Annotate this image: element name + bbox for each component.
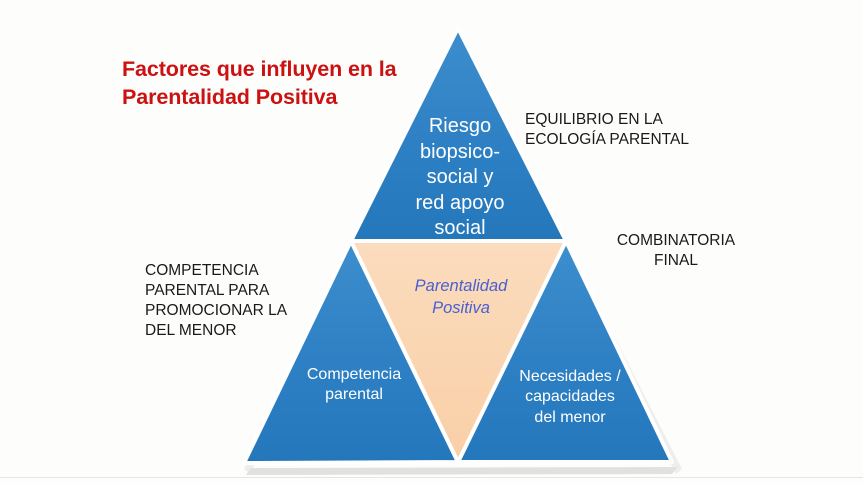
bottom-divider <box>0 477 863 478</box>
callout-competencia-line-3: PROMOCIONAR LA <box>145 301 335 321</box>
slide-canvas: Factores que influyen en la Parentalidad… <box>0 0 863 484</box>
zone-label-center-line-2: Positiva <box>386 297 536 319</box>
zone-label-bottom-right-line-1: Necesidades / <box>490 367 650 387</box>
zone-label-bottom-left: Competencia parental <box>274 365 434 406</box>
callout-competencia-line-4: DEL MENOR <box>145 321 335 341</box>
callout-competencia-line-2: PARENTAL PARA <box>145 281 335 301</box>
zone-label-bottom-right: Necesidades / capacidades del menor <box>490 367 650 428</box>
callout-equilibrio-line-1: EQUILIBRIO EN LA <box>525 110 740 130</box>
zone-label-top-line-5: social <box>388 216 532 242</box>
callout-combinatoria: COMBINATORIA FINAL <box>591 231 761 271</box>
slide-title-line-2: Parentalidad Positiva <box>122 83 452 111</box>
zone-label-center: Parentalidad Positiva <box>386 275 536 320</box>
callout-competencia-line-1: COMPETENCIA <box>145 261 335 281</box>
zone-label-top-line-3: social y <box>388 165 532 191</box>
slide-title-line-1: Factores que influyen en la <box>122 55 452 83</box>
zone-label-bottom-right-line-2: capacidades <box>490 387 650 407</box>
zone-label-bottom-left-line-2: parental <box>274 385 434 405</box>
zone-label-top-line-2: biopsico- <box>388 140 532 166</box>
zone-label-bottom-right-line-3: del menor <box>490 408 650 428</box>
callout-competencia: COMPETENCIA PARENTAL PARA PROMOCIONAR LA… <box>145 261 335 342</box>
zone-label-center-line-1: Parentalidad <box>386 275 536 297</box>
pyramid-base-highlight <box>247 463 670 464</box>
callout-combinatoria-line-2: FINAL <box>591 251 761 271</box>
slide-title: Factores que influyen en la Parentalidad… <box>122 55 452 112</box>
zone-label-bottom-left-line-1: Competencia <box>274 365 434 385</box>
zone-label-top-line-4: red apoyo <box>388 191 532 217</box>
callout-equilibrio-line-2: ECOLOGÍA PARENTAL <box>525 130 740 150</box>
zone-label-top-line-1: Riesgo <box>388 114 532 140</box>
zone-label-top: Riesgo biopsico- social y red apoyo soci… <box>388 114 532 242</box>
callout-equilibrio: EQUILIBRIO EN LA ECOLOGÍA PARENTAL <box>525 110 740 150</box>
callout-combinatoria-line-1: COMBINATORIA <box>591 231 761 251</box>
